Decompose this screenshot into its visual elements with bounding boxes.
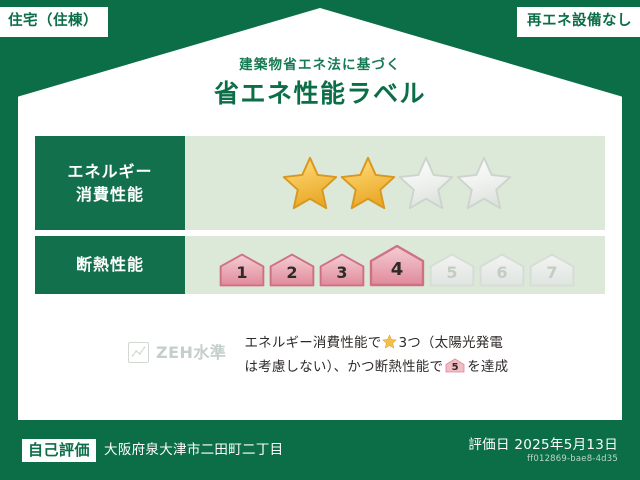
insulation-performance-row: 断熱性能 1234567 [35,236,605,294]
star-empty-icon [398,155,454,211]
insulation-level-number: 1 [236,265,247,287]
insulation-level-number: 7 [546,265,557,287]
energy-performance-row: エネルギー 消費性能 [35,136,605,230]
footer-left: 自己評価 大阪府泉大津市二田町二丁目 [22,439,283,463]
zeh-standard-label: ZEH水準 [156,345,226,361]
star-rating [278,155,512,211]
desc-part-2: は考慮しない）、かつ断熱性能で [244,359,443,375]
label-subtitle: 建築物省エネ法に基づく [0,57,640,73]
insulation-level-badge-1: 1 [219,253,265,287]
evaluation-date-value: 2025年5月13日 [514,437,618,453]
star-filled-icon [340,155,396,211]
evaluation-date-label: 評価日 [468,437,509,453]
energy-label-line1: エネルギー [67,160,152,183]
inline-house-badge: 5 [445,358,465,373]
insulation-level-number: 4 [391,261,404,287]
footer-right: 評価日 2025年5月13日 ff012869-bae8-4d35 [468,437,618,466]
insulation-level-badge-6: 6 [479,253,525,287]
energy-performance-label: 住宅（住棟） 再エネ設備なし 建築物省エネ法に基づく 省エネ性能ラベル エネルギ… [0,0,640,480]
desc-star-count: 3つ（太陽光発電 [398,335,503,351]
insulation-level-badge-3: 3 [319,253,365,287]
building-type-tag: 住宅（住棟） [0,7,108,37]
title-block: 建築物省エネ法に基づく 省エネ性能ラベル [0,57,640,109]
desc-part-1: エネルギー消費性能で [244,335,381,351]
zeh-standard-chip: ZEH水準 [128,332,226,363]
insulation-level-badge-7: 7 [529,253,575,287]
zeh-description-area: ZEH水準 エネルギー消費性能で3つ（太陽光発電は考慮しない）、かつ断熱性能で5… [0,332,640,379]
energy-performance-label: エネルギー 消費性能 [35,136,185,230]
insulation-performance-label: 断熱性能 [35,236,185,294]
insulation-level-badge-4: 4 [369,244,425,287]
energy-performance-value [185,136,605,230]
desc-part-3: を達成 [467,359,508,375]
insulation-level-scale: 1234567 [215,236,575,294]
inline-house-badge-value: 5 [445,363,465,373]
insulation-level-number: 5 [446,265,457,287]
page-title: 省エネ性能ラベル [0,79,640,109]
renewable-energy-tag: 再エネ設備なし [517,7,640,37]
star-filled-icon [282,155,338,211]
insulation-level-number: 2 [286,265,297,287]
insulation-level-badge-2: 2 [269,253,315,287]
rating-rows: エネルギー 消費性能 断熱性能 1234567 [35,136,605,300]
self-evaluation-badge: 自己評価 [22,439,96,463]
energy-label-line2: 消費性能 [76,183,144,206]
insulation-level-badge-5: 5 [429,253,475,287]
insulation-level-number: 3 [336,265,347,287]
insulation-label-text: 断熱性能 [76,253,144,276]
insulation-level-number: 6 [496,265,507,287]
achievement-description: エネルギー消費性能で3つ（太陽光発電は考慮しない）、かつ断熱性能で5を達成 [226,332,640,379]
inline-star-icon [382,334,397,349]
evaluation-date: 評価日 2025年5月13日 [468,437,618,455]
insulation-performance-value: 1234567 [185,236,605,294]
evaluation-id: ff012869-bae8-4d35 [468,454,618,466]
chart-scatter-icon [128,342,149,363]
star-empty-icon [456,155,512,211]
property-address: 大阪府泉大津市二田町二丁目 [104,442,283,458]
